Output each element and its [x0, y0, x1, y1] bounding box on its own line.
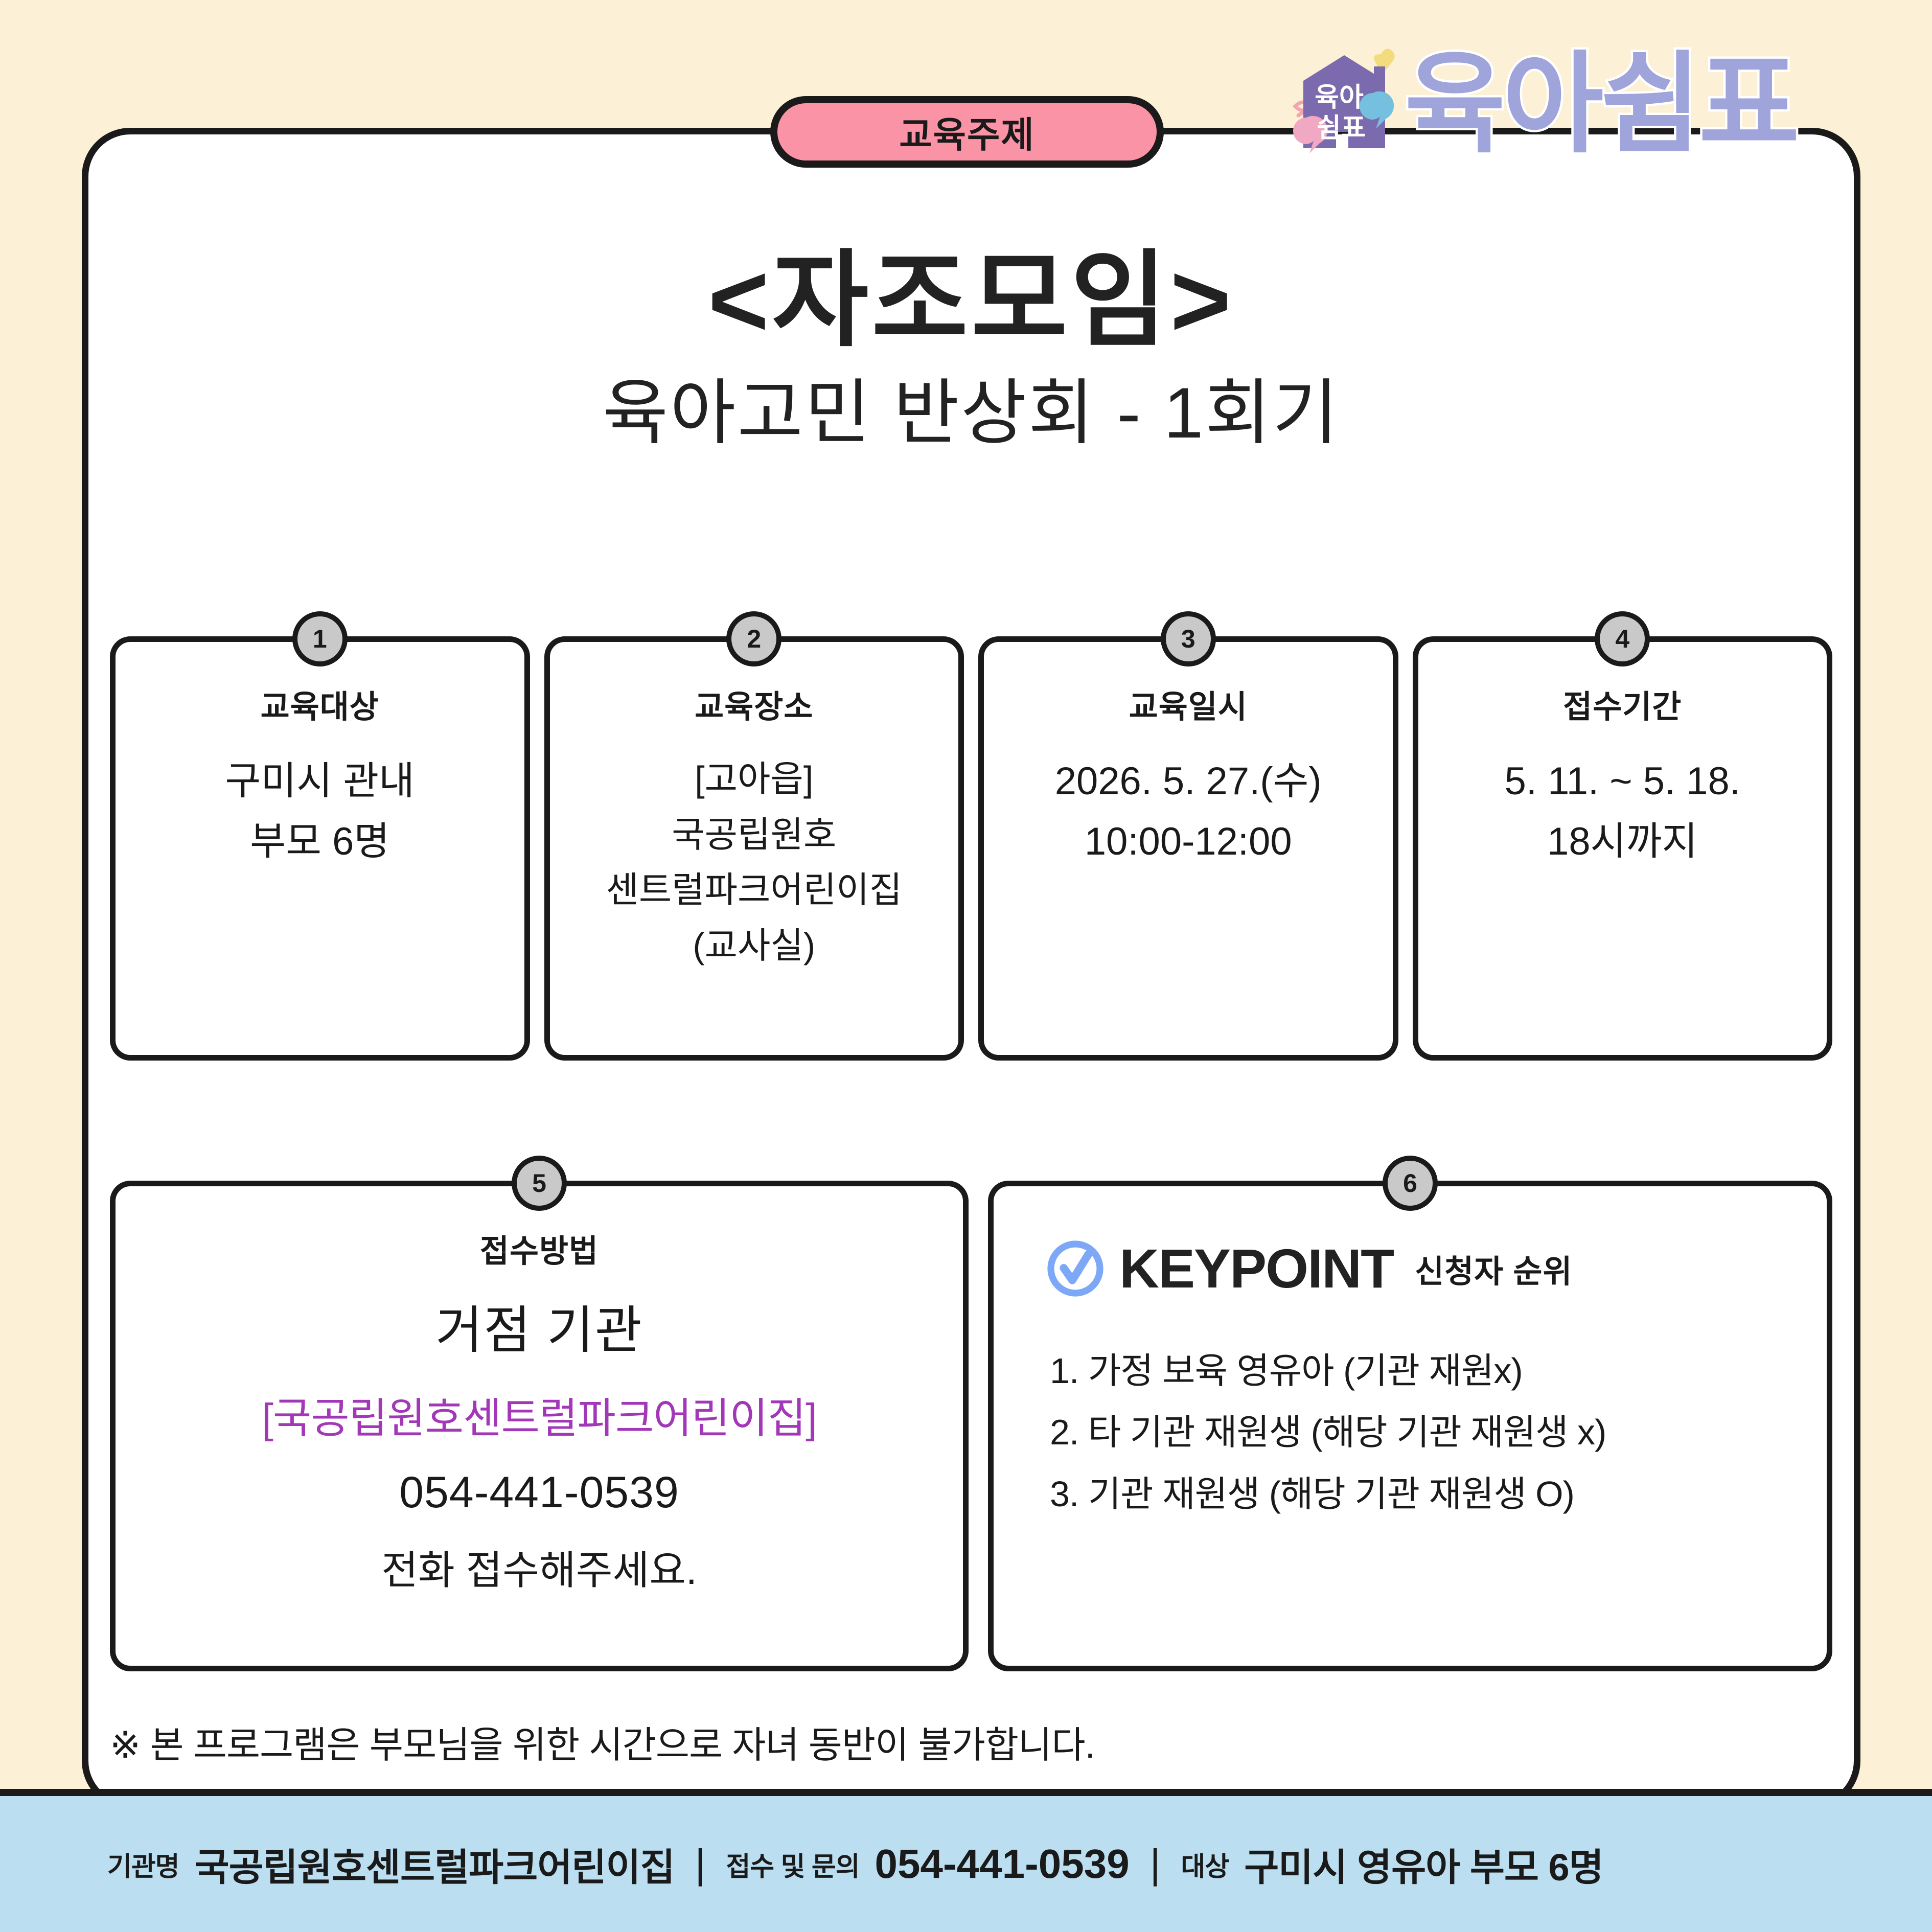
org-name-value: 국공립원호센트럴파크어린이집: [195, 1837, 675, 1892]
keypoint-title: KEYPOINT: [1119, 1236, 1393, 1300]
info-box-body: 구미시 관내 부모 6명: [116, 751, 524, 872]
info-box-body: 2026. 5. 27.(수) 10:00-12:00: [984, 751, 1393, 872]
keypoint-list: 1. 가정 보육 영유아 (기관 재원x) 2. 타 기관 재원생 (해당 기관…: [994, 1340, 1827, 1525]
contact-value: 054-441-0539: [875, 1841, 1130, 1888]
list-item: 1. 가정 보육 영유아 (기관 재원x): [1050, 1340, 1827, 1401]
contact-tag: 접수 및 문의: [726, 1845, 859, 1883]
page-subtitle: 육아고민 반상회 - 1회기: [82, 372, 1860, 454]
svg-text:육아쉼표: 육아쉼표: [1405, 42, 1797, 166]
keypoint-subtitle: 신청자 순위: [1415, 1246, 1572, 1292]
method-phone: 054-441-0539: [116, 1467, 963, 1518]
step-number-badge: 4: [1595, 611, 1650, 666]
keypoint-header: KEYPOINT 신청자 순위: [994, 1236, 1827, 1300]
info-box-body: [고아읍] 국공립원호 센트럴파크어린이집 (교사실): [550, 751, 959, 973]
topic-badge: 교육주제: [770, 96, 1164, 168]
info-box-label: 교육일시: [984, 681, 1393, 727]
info-box-row: 1 교육대상 구미시 관내 부모 6명 2 교육장소 [고아읍] 국공립원호 센…: [110, 636, 1832, 1061]
page-title: <자조모임>: [82, 245, 1860, 355]
separator: |: [1150, 1841, 1161, 1888]
info-box-label: 접수기간: [1418, 681, 1827, 727]
bottom-contact-bar: 기관명 국공립원호센트럴파크어린이집 | 접수 및 문의 054-441-053…: [0, 1789, 1932, 1932]
title-block: <자조모임> 육아고민 반상회 - 1회기: [82, 245, 1860, 454]
brand-logo: 육아 쉼표 육아쉼표: [1288, 20, 1881, 174]
bottom-box-row: 5 접수방법 거점 기관 [국공립원호센트럴파크어린이집] 054-441-05…: [110, 1181, 1832, 1671]
step-number-badge: 3: [1161, 611, 1216, 666]
info-box-application-period: 4 접수기간 5. 11. ~ 5. 18. 18시까지: [1413, 636, 1833, 1061]
target-value: 구미시 영유아 부모 6명: [1244, 1837, 1603, 1892]
info-box-target: 1 교육대상 구미시 관내 부모 6명: [110, 636, 530, 1061]
check-circle-icon: [1045, 1238, 1106, 1299]
info-box-application-method: 5 접수방법 거점 기관 [국공립원호센트럴파크어린이집] 054-441-05…: [110, 1181, 969, 1671]
info-box-label: 접수방법: [116, 1225, 963, 1271]
info-box-body: 5. 11. ~ 5. 18. 18시까지: [1418, 751, 1827, 872]
method-headline: 거점 기관: [116, 1289, 963, 1363]
info-box-keypoint: 6 KEYPOINT 신청자 순위 1. 가정 보육 영유아 (기관 재원x) …: [988, 1181, 1832, 1671]
org-name-tag: 기관명: [107, 1845, 179, 1883]
logo-svg: 육아 쉼표 육아쉼표: [1288, 20, 1881, 174]
target-tag: 대상: [1181, 1845, 1229, 1883]
svg-text:쉼표: 쉼표: [1317, 113, 1366, 143]
info-box-datetime: 3 교육일시 2026. 5. 27.(수) 10:00-12:00: [978, 636, 1398, 1061]
topic-badge-label: 교육주제: [899, 106, 1035, 158]
info-box-label: 교육대상: [116, 681, 524, 727]
method-organization: [국공립원호센트럴파크어린이집]: [116, 1384, 963, 1445]
list-item: 2. 타 기관 재원생 (해당 기관 재원생 x): [1050, 1401, 1827, 1463]
step-number-badge: 6: [1383, 1156, 1438, 1211]
info-box-label: 교육장소: [550, 681, 959, 727]
svg-text:육아: 육아: [1315, 83, 1364, 112]
footnote: ※ 본 프로그램은 부모님을 위한 시간으로 자녀 동반이 불가합니다.: [110, 1715, 1095, 1768]
separator: |: [695, 1841, 706, 1888]
list-item: 3. 기관 재원생 (해당 기관 재원생 O): [1050, 1463, 1827, 1525]
info-box-location: 2 교육장소 [고아읍] 국공립원호 센트럴파크어린이집 (교사실): [544, 636, 964, 1061]
step-number-badge: 5: [512, 1156, 567, 1211]
step-number-badge: 2: [726, 611, 781, 666]
step-number-badge: 1: [292, 611, 348, 666]
method-note: 전화 접수해주세요.: [116, 1538, 963, 1596]
